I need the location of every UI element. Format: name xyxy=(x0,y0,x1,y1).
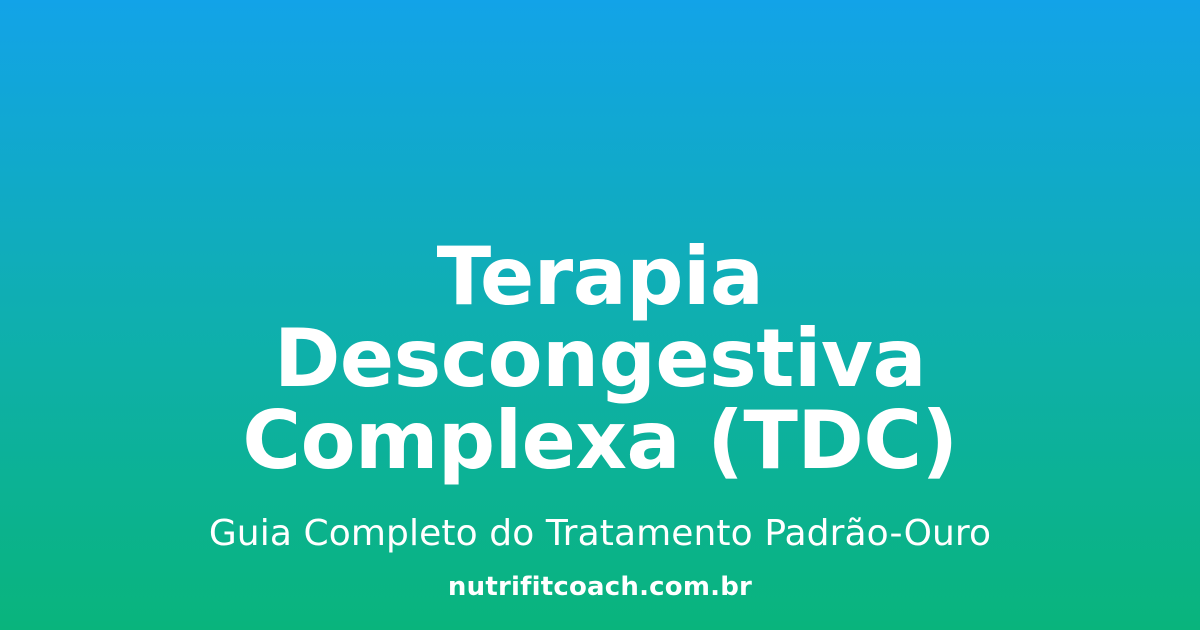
card-footer: nutrifitcoach.com.br xyxy=(0,571,1200,603)
card-content: Terapia Descongestiva Complexa (TDC) Gui… xyxy=(0,236,1200,556)
site-url: nutrifitcoach.com.br xyxy=(448,571,752,603)
page-subtitle: Guia Completo do Tratamento Padrão-Ouro xyxy=(170,482,1030,556)
share-card: Terapia Descongestiva Complexa (TDC) Gui… xyxy=(0,0,1200,630)
page-title: Terapia Descongestiva Complexa (TDC) xyxy=(180,236,1020,482)
